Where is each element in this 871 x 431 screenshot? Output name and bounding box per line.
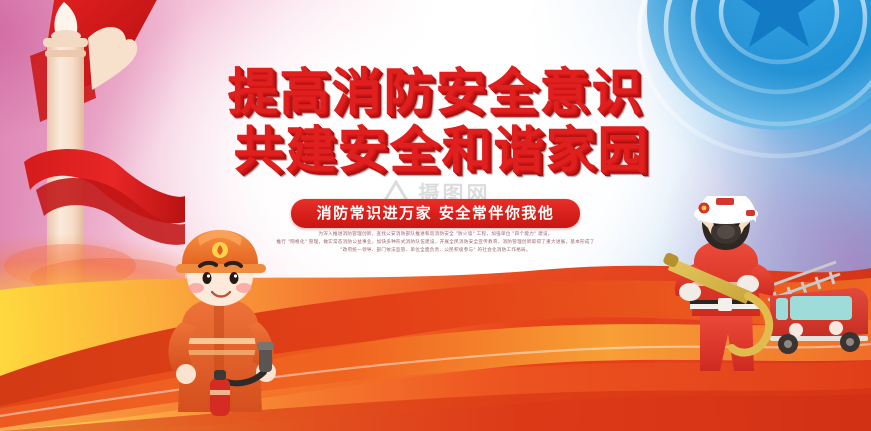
blue-star-ripple-graphic	[629, 0, 871, 170]
kid-eye-left	[203, 272, 212, 284]
kid-blush-right	[236, 283, 252, 293]
kid-eye-right	[230, 272, 239, 284]
fireman-glove-left	[679, 283, 701, 301]
kid-blush-left	[188, 283, 204, 293]
subtitle-banner-text: 消防常识进万家 安全常伴你我他	[317, 204, 555, 222]
fire-extinguisher	[210, 378, 230, 416]
reflective-stripe	[180, 350, 262, 355]
subtitle-banner: 消防常识进万家 安全常伴你我他	[291, 199, 581, 228]
reflective-stripe	[180, 338, 262, 344]
subtitle-banner-wrap: 消防常识进万家 安全常伴你我他	[0, 199, 871, 228]
truck-headlight	[829, 321, 843, 335]
fire-safety-poster: 提高消防安全意识 共建安全和谐家园 摄图网 消防常识进万家 安全常伴你我他 为深…	[0, 0, 871, 431]
fireman-legs	[700, 312, 754, 371]
kid-hand-left	[176, 364, 196, 384]
cartoon-kid-firefighter	[152, 222, 300, 417]
